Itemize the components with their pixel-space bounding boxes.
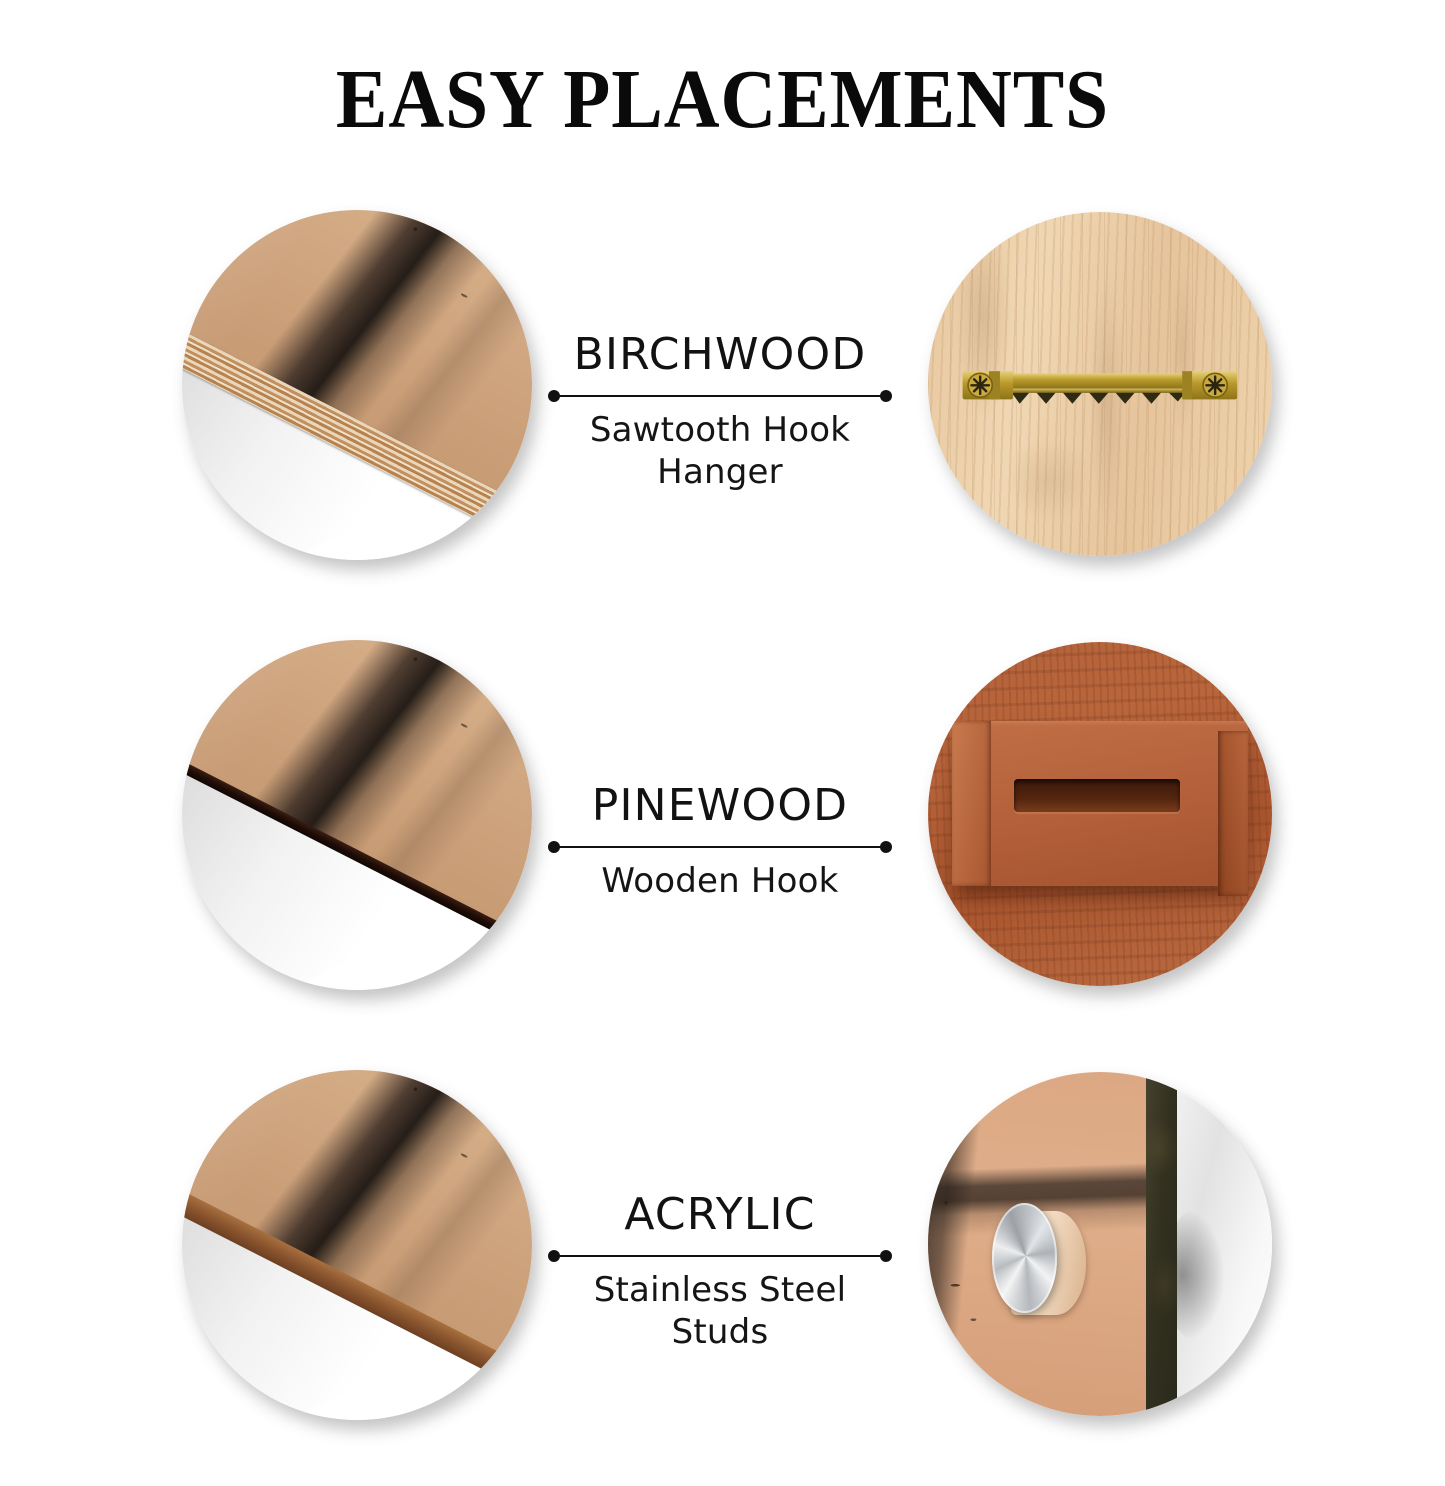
placement-rows: BIRCHWOOD Sawtooth Hook Hanger xyxy=(0,196,1445,1486)
panel-artwork xyxy=(182,1070,532,1420)
divider xyxy=(548,840,892,854)
divider-dot-right-icon xyxy=(880,841,892,853)
divider-line xyxy=(554,1255,886,1257)
divider-line xyxy=(554,846,886,848)
acrylic-side-edge xyxy=(1146,1072,1177,1416)
birchwood-panel-image xyxy=(182,210,532,560)
hardware-subtitle: Sawtooth Hook Hanger xyxy=(555,409,885,493)
pinewood-panel-image xyxy=(182,640,532,990)
stainless-steel-stud-cap-icon xyxy=(992,1203,1057,1313)
hardware-subtitle: Stainless Steel Studs xyxy=(555,1269,885,1353)
wooden-hook-slot xyxy=(1014,779,1180,812)
placement-row: ACRYLIC Stainless Steel Studs xyxy=(0,1056,1445,1486)
placement-row: PINEWOOD Wooden Hook xyxy=(0,626,1445,1056)
divider-dot-right-icon xyxy=(880,390,892,402)
material-title: BIRCHWOOD xyxy=(574,329,867,381)
divider xyxy=(548,389,892,403)
panel-artwork xyxy=(182,640,532,990)
sawtooth-hanger-icon xyxy=(956,369,1242,419)
label-block-acrylic: ACRYLIC Stainless Steel Studs xyxy=(540,1056,900,1486)
wooden-hook-image xyxy=(928,642,1272,986)
page-title: EASY PLACEMENTS xyxy=(58,52,1387,148)
divider xyxy=(548,1249,892,1263)
material-title: PINEWOOD xyxy=(592,780,848,832)
material-title: ACRYLIC xyxy=(624,1189,815,1241)
placement-row: BIRCHWOOD Sawtooth Hook Hanger xyxy=(0,196,1445,626)
label-block-birchwood: BIRCHWOOD Sawtooth Hook Hanger xyxy=(540,196,900,626)
wooden-hook-block xyxy=(952,721,1248,886)
stainless-steel-stud-image xyxy=(928,1072,1272,1416)
divider-dot-right-icon xyxy=(880,1250,892,1262)
panel-artwork xyxy=(182,210,532,560)
acrylic-panel-image xyxy=(182,1070,532,1420)
label-block-pinewood: PINEWOOD Wooden Hook xyxy=(540,626,900,1056)
divider-line xyxy=(554,395,886,397)
sawtooth-hanger-image xyxy=(928,212,1272,556)
stud-scene xyxy=(928,1072,1272,1416)
hardware-subtitle: Wooden Hook xyxy=(601,860,838,902)
